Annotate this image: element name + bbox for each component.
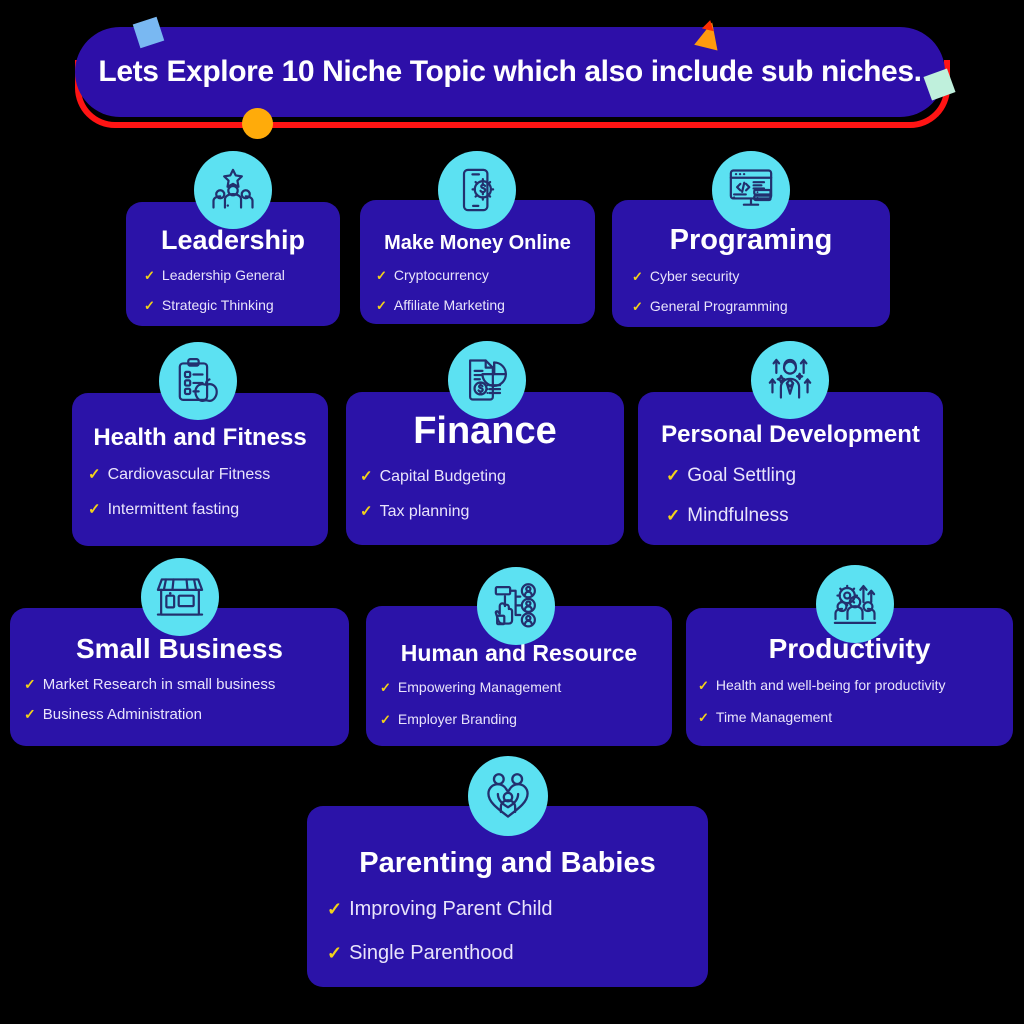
check-icon: ✓ [632, 299, 643, 315]
amber-circle-decoration-icon [242, 108, 273, 139]
check-icon: ✓ [632, 269, 643, 285]
sub-niche-list: ✓Cardiovascular Fitness✓Intermittent fas… [72, 465, 328, 519]
sub-niche-label: General Programming [650, 298, 788, 314]
check-icon: ✓ [698, 710, 709, 726]
check-icon: ✓ [376, 298, 387, 314]
mobile-gear-dollar-icon [438, 151, 516, 229]
check-icon: ✓ [360, 502, 373, 520]
card-title: Small Business [76, 634, 283, 663]
sub-niche-label: Capital Budgeting [380, 468, 506, 486]
sub-niche-list: ✓Cryptocurrency✓Affiliate Marketing [360, 267, 595, 314]
sub-niche-list: ✓Goal Settling✓Mindfulness [638, 465, 943, 527]
check-icon: ✓ [88, 465, 101, 483]
check-icon: ✓ [88, 500, 101, 518]
sub-niche-item: ✓Employer Branding [380, 711, 672, 728]
sub-niche-item: ✓Empowering Management [380, 679, 672, 696]
sub-niche-label: Affiliate Marketing [394, 297, 505, 313]
header-banner: Lets Explore 10 Niche Topic which also i… [0, 0, 1024, 150]
sub-niche-item: ✓Market Research in small business [24, 676, 349, 693]
sub-niche-label: Leadership General [162, 267, 285, 283]
card-title: Leadership [161, 226, 305, 254]
hand-selecting-people-network-icon [477, 567, 555, 645]
family-heart-icon [468, 756, 548, 836]
sub-niche-list: ✓Empowering Management✓Employer Branding [366, 679, 672, 728]
sub-niche-label: Market Research in small business [43, 676, 276, 693]
person-growth-arrows-icon [751, 341, 829, 419]
sub-niche-label: Goal Settling [687, 465, 796, 487]
check-icon: ✓ [144, 298, 155, 314]
sub-niche-label: Mindfulness [687, 505, 788, 527]
sub-niche-label: Strategic Thinking [162, 297, 274, 313]
sub-niche-label: Intermittent fasting [108, 501, 240, 519]
sub-niche-item: ✓Health and well-being for productivity [698, 677, 1013, 694]
sub-niche-label: Cyber security [650, 268, 739, 284]
check-icon: ✓ [327, 943, 342, 964]
card-title: Make Money Online [384, 233, 571, 254]
sub-niche-item: ✓Tax planning [360, 502, 624, 521]
sub-niche-label: Health and well-being for productivity [716, 677, 946, 693]
sub-niche-item: ✓Affiliate Marketing [376, 297, 595, 314]
card-title: Personal Development [661, 422, 920, 447]
sub-niche-label: Cardiovascular Fitness [108, 466, 271, 484]
storefront-icon [141, 558, 219, 636]
sub-niche-label: Single Parenthood [349, 942, 514, 965]
check-icon: ✓ [666, 506, 680, 526]
card-title: Parenting and Babies [359, 848, 656, 878]
check-icon: ✓ [376, 268, 387, 284]
header-bar: Lets Explore 10 Niche Topic which also i… [75, 27, 945, 117]
sub-niche-label: Employer Branding [398, 711, 517, 727]
page-title: Lets Explore 10 Niche Topic which also i… [98, 55, 921, 89]
document-piechart-dollar-icon [448, 341, 526, 419]
sub-niche-label: Time Management [716, 709, 832, 725]
check-icon: ✓ [360, 467, 373, 485]
card-title: Programing [670, 225, 833, 255]
check-icon: ✓ [327, 899, 342, 920]
leadership-team-star-icon [194, 151, 272, 229]
check-icon: ✓ [666, 466, 680, 486]
sub-niche-item: ✓Goal Settling [666, 465, 943, 487]
sub-niche-item: ✓Cryptocurrency [376, 267, 595, 284]
check-icon: ✓ [698, 678, 709, 694]
sub-niche-label: Empowering Management [398, 679, 561, 695]
monitor-code-server-icon [712, 151, 790, 229]
sub-niche-item: ✓Cardiovascular Fitness [88, 465, 328, 484]
sub-niche-list: ✓Improving Parent Child✓Single Parenthoo… [307, 898, 708, 965]
sub-niche-item: ✓Time Management [698, 709, 1013, 726]
sub-niche-item: ✓General Programming [632, 298, 890, 315]
sub-niche-list: ✓Cyber security✓General Programming [612, 268, 890, 315]
check-icon: ✓ [144, 268, 155, 284]
sub-niche-item: ✓Intermittent fasting [88, 500, 328, 519]
check-icon: ✓ [380, 680, 391, 696]
sub-niche-item: ✓Improving Parent Child [327, 898, 708, 921]
sub-niche-label: Tax planning [380, 503, 470, 521]
card-title: Health and Fitness [93, 425, 306, 450]
team-gear-growth-arrows-icon [816, 565, 894, 643]
sub-niche-item: ✓Strategic Thinking [144, 297, 340, 314]
sub-niche-label: Business Administration [43, 706, 202, 723]
sub-niche-item: ✓Single Parenthood [327, 942, 708, 965]
check-icon: ✓ [24, 706, 36, 723]
check-icon: ✓ [24, 676, 36, 693]
sub-niche-list: ✓Health and well-being for productivity✓… [686, 677, 1013, 726]
sub-niche-item: ✓Cyber security [632, 268, 890, 285]
sub-niche-list: ✓Leadership General✓Strategic Thinking [126, 267, 340, 314]
sub-niche-list: ✓Capital Budgeting✓Tax planning [346, 467, 624, 521]
sub-niche-item: ✓Capital Budgeting [360, 467, 624, 486]
sub-niche-label: Cryptocurrency [394, 267, 489, 283]
sub-niche-list: ✓Market Research in small business✓Busin… [10, 676, 349, 723]
sub-niche-item: ✓Leadership General [144, 267, 340, 284]
check-icon: ✓ [380, 712, 391, 728]
clipboard-apple-icon [159, 342, 237, 420]
sub-niche-item: ✓Mindfulness [666, 505, 943, 527]
sub-niche-label: Improving Parent Child [349, 898, 552, 921]
sub-niche-item: ✓Business Administration [24, 706, 349, 723]
